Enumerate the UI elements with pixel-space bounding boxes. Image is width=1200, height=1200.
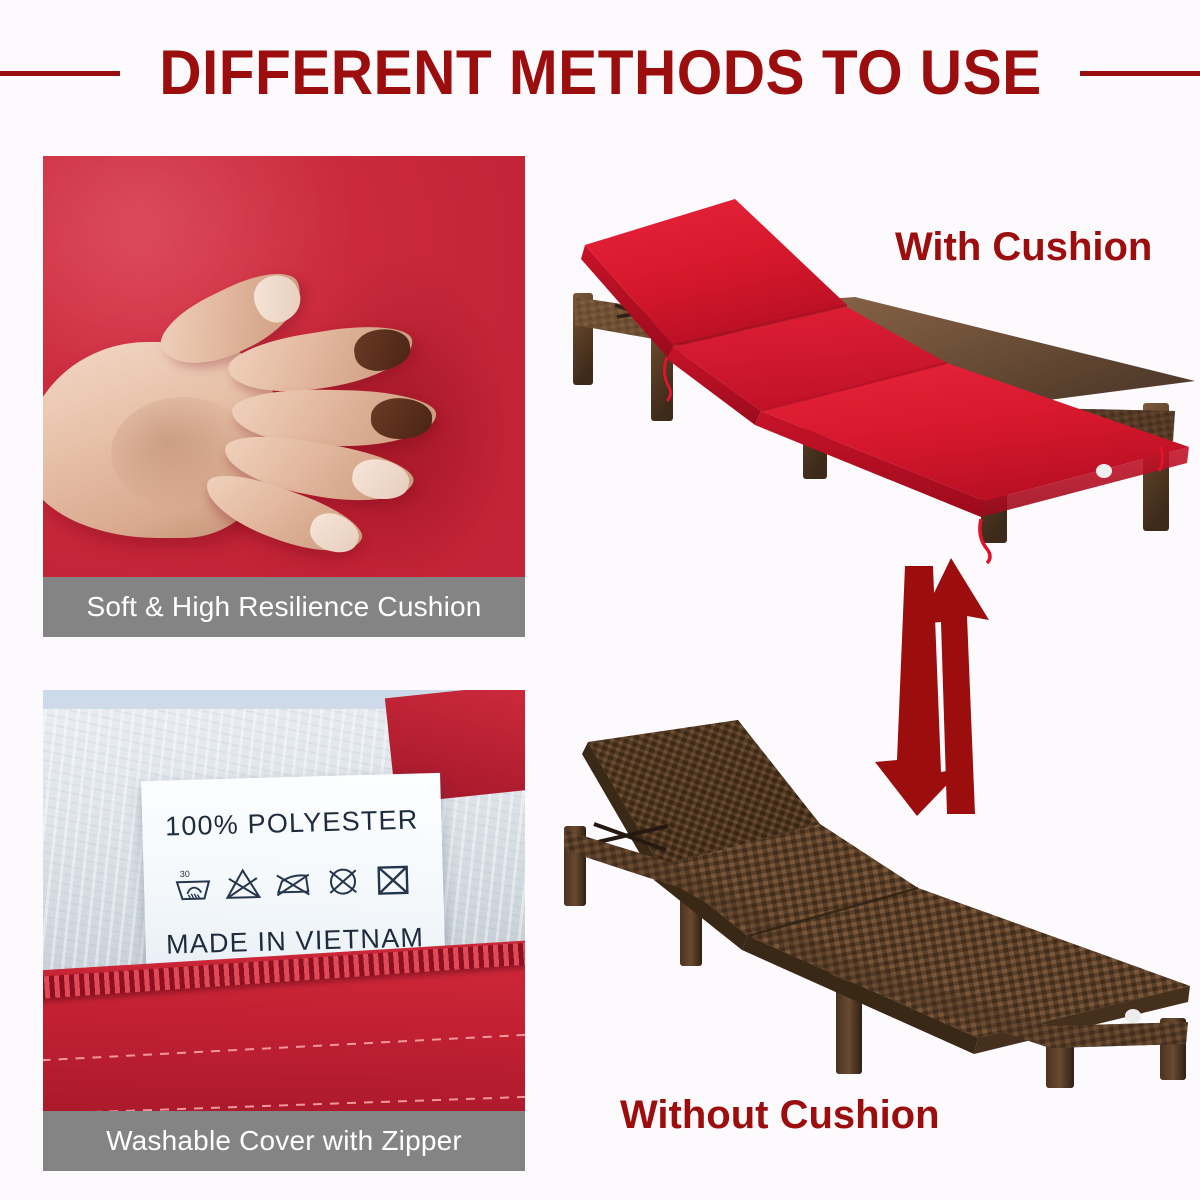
infographic-stage: DIFFERENT METHODS TO USE Soft & High Res…	[0, 0, 1200, 1200]
photo-care-label-zipper: 100% POLYESTER 30	[43, 690, 525, 1171]
do-not-tumble-dry-icon	[373, 861, 414, 896]
lounger-label-with-cushion: With Cushion	[895, 225, 1152, 270]
lounger-without-cushion	[548, 700, 1198, 1090]
fingernail	[351, 324, 413, 373]
hand-illustration	[43, 305, 467, 570]
do-not-iron-icon	[273, 864, 314, 899]
panel-caption-cushion: Soft & High Resilience Cushion	[43, 577, 525, 637]
fingernail	[349, 455, 412, 503]
photo-hand-pressing-cushion	[43, 156, 525, 637]
care-symbol-row: 30	[173, 861, 414, 902]
panel-washable-cover-with-zipper: 100% POLYESTER 30	[43, 690, 525, 1171]
panel-caption-zipper: Washable Cover with Zipper	[43, 1111, 525, 1171]
title-rule-right	[1080, 71, 1200, 76]
fingernail	[305, 508, 364, 560]
svg-text:30: 30	[180, 868, 190, 878]
page-title-row: DIFFERENT METHODS TO USE	[0, 34, 1200, 112]
care-label-material: 100% POLYESTER	[165, 804, 419, 842]
do-not-dry-clean-icon	[323, 863, 364, 898]
fingernail	[370, 397, 432, 439]
page-title: DIFFERENT METHODS TO USE	[159, 42, 1041, 105]
lounger-label-without-cushion: Without Cushion	[620, 1093, 940, 1138]
title-rule-left	[0, 71, 120, 76]
hand-wash-30-icon: 30	[173, 867, 214, 902]
do-not-bleach-icon	[223, 865, 264, 900]
panel-soft-high-resilience-cushion: Soft & High Resilience Cushion	[43, 156, 525, 637]
